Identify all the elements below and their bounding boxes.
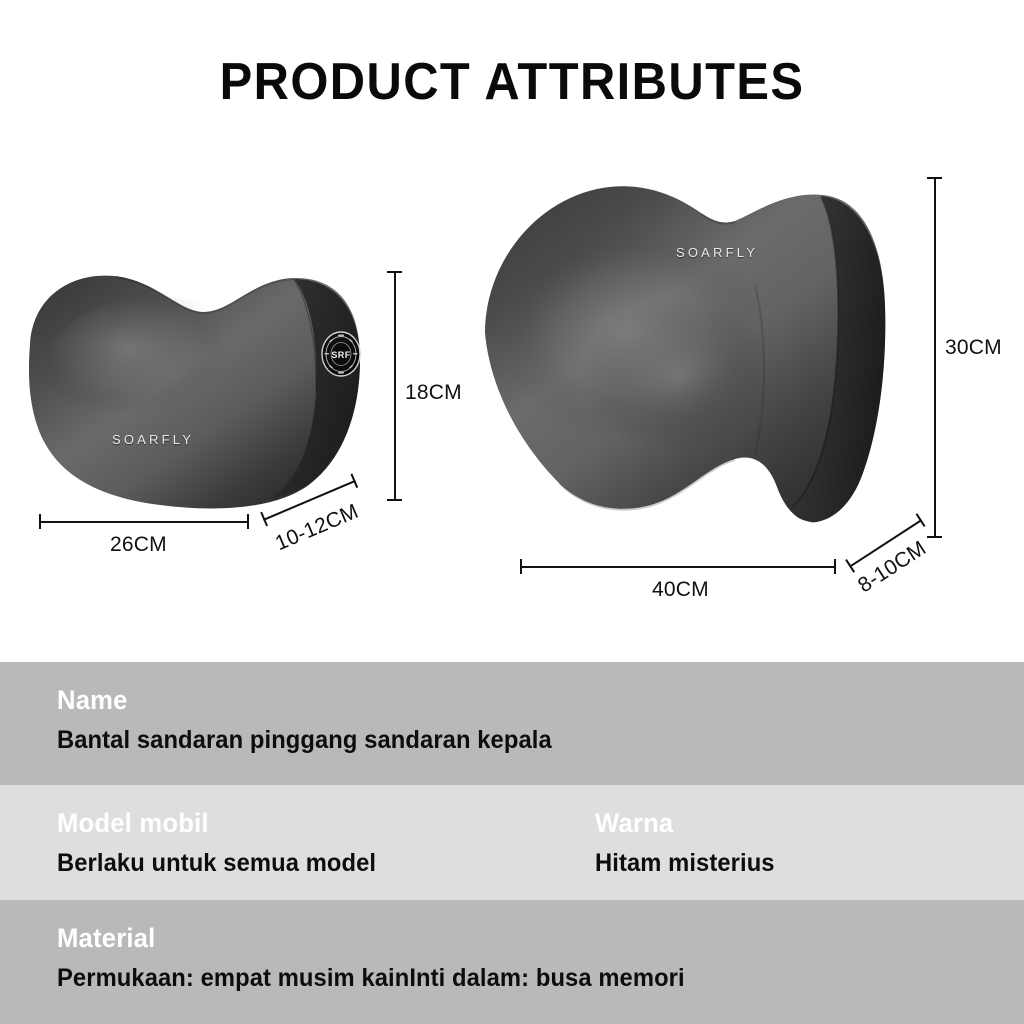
spec-row-name: Name Bantal sandaran pinggang sandaran k… [0,662,1024,785]
headrest-width-dimension-line [39,521,248,523]
lumbar-depth-cap-start [845,559,855,572]
lumbar-height-label: 30CM [945,336,1002,360]
lumbar-height-cap-bottom [927,536,942,538]
lumbar-height-dimension-line [934,177,936,537]
headrest-width-cap-left [39,514,41,529]
spec-value-color: Hitam misterius [595,849,775,878]
spec-row-material: Material Permukaan: empat musim kainInti… [0,900,1024,1024]
spec-value-material: Permukaan: empat musim kainInti dalam: b… [57,964,685,993]
lumbar-width-dimension-line [520,566,836,568]
page-title: PRODUCT ATTRIBUTES [31,52,994,112]
lumbar-width-cap-right [834,559,836,574]
lumbar-height-cap-top [927,177,942,179]
srf-badge-icon: SRF [320,330,362,378]
lumbar-width-cap-left [520,559,522,574]
headrest-width-cap-right [247,514,249,529]
hero-section: PRODUCT ATTRIBUTES [0,0,1024,662]
lumbar-pillow-image [455,165,925,555]
headrest-height-dimension-line [394,271,396,500]
headrest-height-cap-bottom [387,499,402,501]
spec-column-color: Warna Hitam misterius [595,809,784,878]
headrest-height-cap-top [387,271,402,273]
spec-value-name: Bantal sandaran pinggang sandaran kepala [57,726,552,755]
spec-label-model: Model mobil [57,809,376,837]
spec-label-name: Name [57,686,552,714]
spec-column-material: Material Permukaan: empat musim kainInti… [57,924,718,993]
spec-label-material: Material [57,924,685,952]
spec-label-color: Warna [595,809,775,837]
specifications-panel: Name Bantal sandaran pinggang sandaran k… [0,662,1024,1024]
lumbar-width-label: 40CM [652,578,709,602]
headrest-pillow-image [8,250,398,520]
svg-text:SRF: SRF [331,350,350,360]
headrest-width-label: 26CM [110,533,167,557]
spec-value-model: Berlaku untuk semua model [57,849,376,878]
spec-column-name: Name Bantal sandaran pinggang sandaran k… [57,686,578,755]
headrest-height-label: 18CM [405,381,462,405]
spec-row-model-color: Model mobil Berlaku untuk semua model Wa… [0,785,1024,900]
spec-column-model: Model mobil Berlaku untuk semua model [57,809,393,878]
